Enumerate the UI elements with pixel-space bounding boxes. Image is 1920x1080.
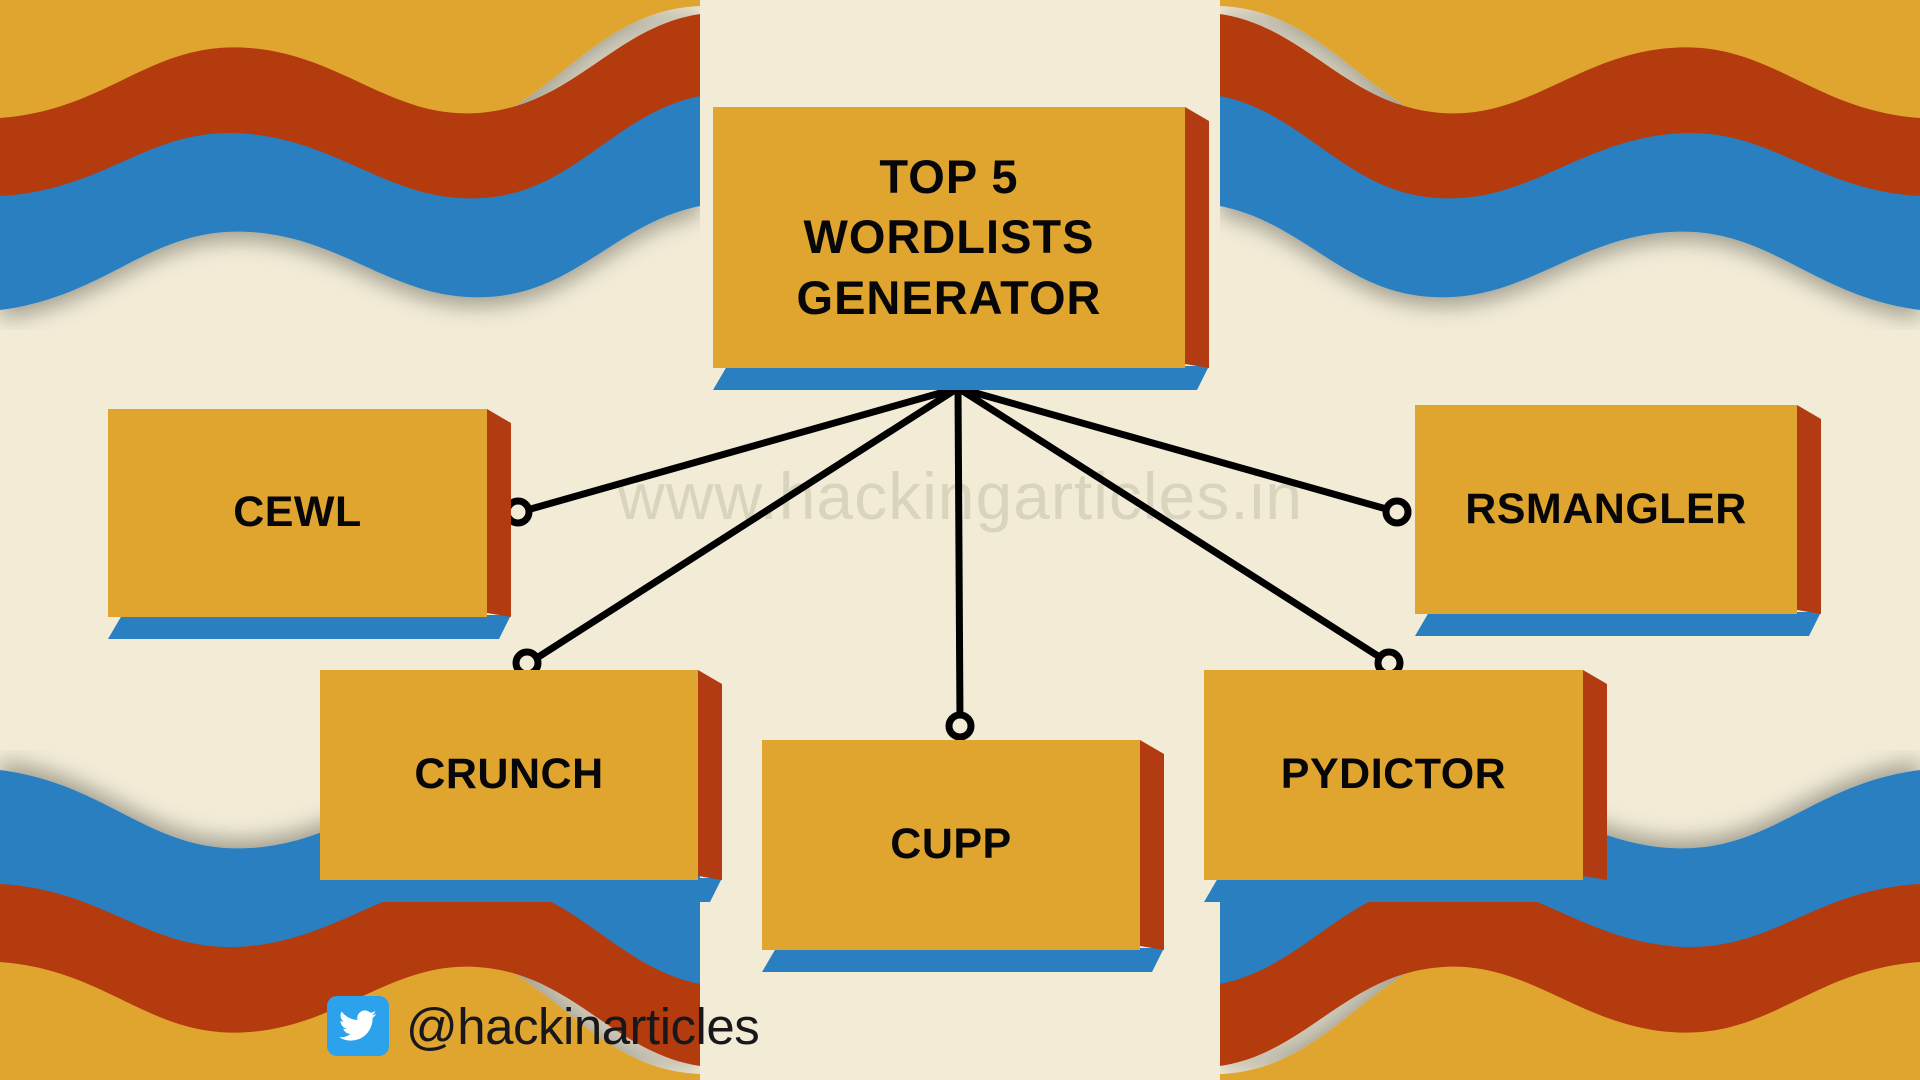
decorative-corner-waves-top-left	[0, 0, 700, 330]
box-bottom-shadow	[762, 948, 1164, 972]
node-box-cewl[interactable]: CEWL	[108, 409, 487, 617]
box-bottom-shadow	[713, 366, 1209, 390]
wave-layer-rust	[0, 14, 700, 207]
node-box-cupp[interactable]: CUPP	[762, 740, 1140, 950]
box-face: CRUNCH	[320, 670, 698, 880]
wave-layer-blue	[1220, 96, 1920, 310]
box-bottom-shadow	[1204, 878, 1607, 902]
box-face: RSMANGLER	[1415, 405, 1797, 614]
wave-layer-yellow	[0, 0, 700, 262]
box-bottom-shadow	[320, 878, 722, 902]
box-side-shadow	[698, 670, 722, 880]
box-face: PYDICTOR	[1204, 670, 1583, 880]
wave-layer-blue	[0, 96, 700, 310]
node-label-rsmangler: RSMANGLER	[1465, 482, 1747, 537]
hub-box-top-5-wordlists-generator[interactable]: TOP 5 WORDLISTS GENERATOR	[713, 107, 1185, 368]
node-label-crunch: CRUNCH	[414, 747, 603, 802]
wave-layer-yellow	[1220, 0, 1920, 262]
box-side-shadow	[1797, 405, 1821, 614]
box-face: CUPP	[762, 740, 1140, 950]
infographic-canvas: www.hackingarticles.in TOP 5 WORDLISTS G…	[0, 0, 1920, 1080]
box-bottom-shadow	[108, 615, 511, 639]
box-bottom-shadow	[1415, 612, 1821, 636]
hub-label: TOP 5 WORDLISTS GENERATOR	[797, 147, 1102, 327]
node-label-pydictor: PYDICTOR	[1281, 747, 1506, 802]
node-box-rsmangler[interactable]: RSMANGLER	[1415, 405, 1797, 614]
box-face: TOP 5 WORDLISTS GENERATOR	[713, 107, 1185, 368]
box-side-shadow	[487, 409, 511, 617]
box-face: CEWL	[108, 409, 487, 617]
twitter-handle-text: @hackinarticles	[406, 997, 759, 1056]
footer-credit: @hackinarticles	[327, 996, 759, 1056]
node-label-cewl: CEWL	[233, 485, 362, 540]
box-side-shadow	[1185, 107, 1209, 368]
node-box-crunch[interactable]: CRUNCH	[320, 670, 698, 880]
connector-line-cupp	[958, 388, 960, 723]
node-label-cupp: CUPP	[890, 817, 1011, 872]
decorative-corner-waves-top-right	[1220, 0, 1920, 330]
box-side-shadow	[1583, 670, 1607, 880]
box-side-shadow	[1140, 740, 1164, 950]
twitter-icon[interactable]	[327, 996, 389, 1056]
wave-layer-rust	[1220, 14, 1920, 207]
connector-node-cupp	[949, 715, 971, 737]
node-box-pydictor[interactable]: PYDICTOR	[1204, 670, 1583, 880]
